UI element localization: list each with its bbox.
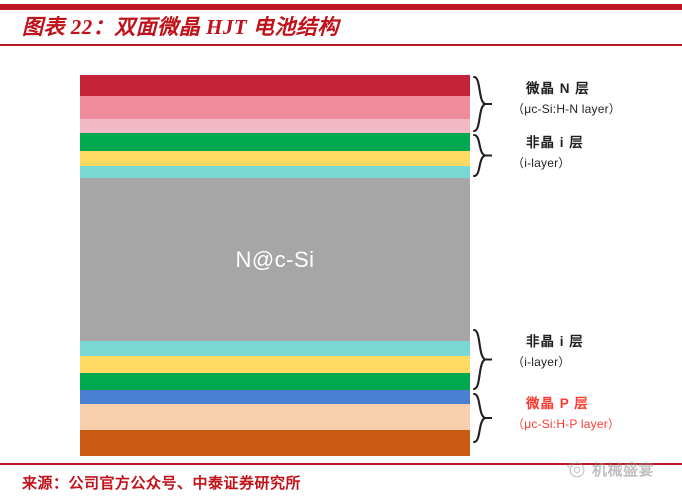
brace-i-layer-top [472,133,492,178]
layer-i-layer-top-yellow [80,151,470,166]
header-bottom-rule [0,44,682,46]
layer-bulk-silicon: N@c-Si [80,178,470,341]
watermark: 机械盛宴 [566,458,654,480]
source-note: 来源：公司官方公众号、中泰证券研究所 [22,472,301,493]
annotation-microcrystalline-n-cn: 微晶 N 层 [512,77,621,97]
page-title: 图表 22：双面微晶 HJT 电池结构 [22,11,339,41]
cell-structure-diagram: N@c-Si [80,75,470,456]
brace-i-layer-bottom [472,328,492,391]
layer-i-layer-bottom-green [80,373,470,390]
layer-microcrystalline-n-mid [80,96,470,119]
layer-i-layer-bottom-yellow [80,356,470,373]
layer-microcrystalline-p-dark [80,430,470,456]
annotation-microcrystalline-n-en: （μc-Si:H-N layer） [512,100,621,117]
annotation-i-layer-top: 非晶 i 层 （i-layer） [512,131,584,171]
annotation-i-layer-bottom: 非晶 i 层 （i-layer） [512,330,584,370]
layer-i-layer-bottom-blue [80,390,470,404]
layer-i-layer-top-cyan [80,166,470,178]
annotation-microcrystalline-p: 微晶 P 层 （μc-Si:H-P layer） [512,392,620,432]
layer-microcrystalline-p-light [80,404,470,430]
header-top-rule [0,4,682,10]
annotation-i-layer-bottom-en: （i-layer） [512,353,584,370]
watermark-text: 机械盛宴 [592,459,654,480]
annotation-microcrystalline-p-en: （μc-Si:H-P layer） [512,415,620,432]
bulk-silicon-label: N@c-Si [80,247,470,273]
layer-i-layer-bottom-cyan [80,341,470,356]
layer-microcrystalline-n-dark [80,75,470,96]
brace-microcrystalline-p [472,392,492,444]
layer-microcrystalline-n-light [80,119,470,133]
layer-i-layer-top-green [80,133,470,151]
brace-microcrystalline-n [472,75,492,133]
annotation-microcrystalline-p-cn: 微晶 P 层 [512,392,620,412]
annotation-i-layer-top-cn: 非晶 i 层 [512,131,584,151]
watermark-logo-icon [566,458,588,480]
annotation-i-layer-top-en: （i-layer） [512,154,584,171]
annotation-microcrystalline-n: 微晶 N 层 （μc-Si:H-N layer） [512,77,621,117]
annotation-i-layer-bottom-cn: 非晶 i 层 [512,330,584,350]
